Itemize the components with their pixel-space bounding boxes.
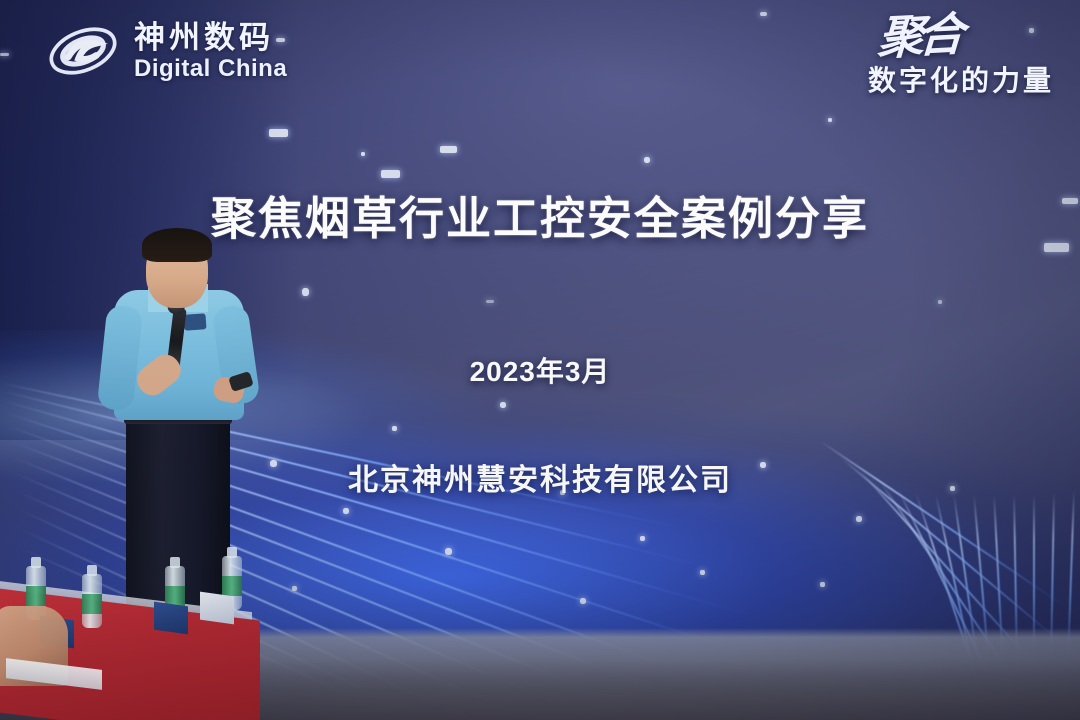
digital-china-chinese-name: 神州数码 [134,22,287,53]
digital-china-logo: 神州数码 Digital China [46,20,287,82]
water-bottle [82,574,102,628]
presenter [96,228,276,628]
digital-china-english-name: Digital China [134,57,287,81]
presenter-shirt-logo [183,313,206,330]
digital-china-wordmark: 神州数码 Digital China [134,22,287,81]
name-card [200,592,234,625]
conference-stage-scene: 神州数码 Digital China 聚合 数字化的力量 聚焦烟草行业工控安全案… [0,0,1080,720]
event-calligraphy-mark: 聚合 [877,14,960,60]
event-tagline: 数字化的力量 [868,59,1054,99]
digital-china-swirl-icon [46,20,120,82]
name-card [154,602,188,635]
event-logo: 聚合 数字化的力量 [868,16,1054,99]
presenter-hair [142,228,212,262]
